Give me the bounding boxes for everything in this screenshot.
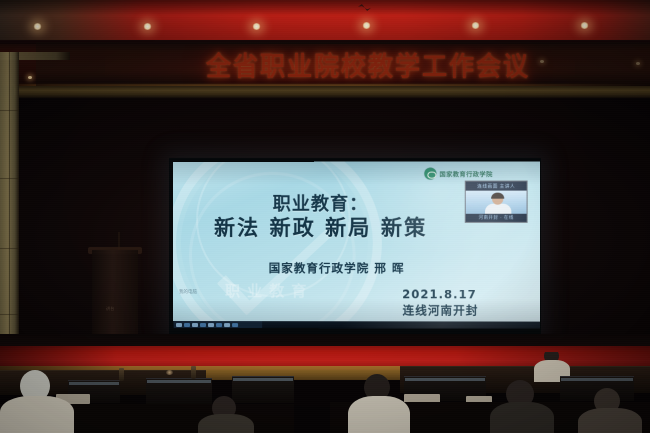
wall-seam-vertical	[9, 52, 10, 352]
podium-label: 讲台	[106, 306, 115, 312]
ceiling-downlight-6	[580, 22, 589, 29]
pip-top-bar-text: 连线画面 主讲人	[477, 183, 515, 189]
desktop-icon: 我的电脑	[179, 280, 197, 294]
ceiling-red-wash	[0, 0, 650, 44]
taskbar-app-icon-4	[208, 323, 214, 327]
left-wall-panel	[0, 52, 19, 352]
person-shoulder	[198, 414, 254, 433]
taskbar-app-icon-3	[200, 323, 206, 327]
conference-hall-photo: 全省职业院校教学工作会议 职业教育 国家教育行政学院 连线画面 主讲人	[0, 0, 650, 433]
taskbar-start-icon	[176, 323, 182, 327]
projection-screen: 职业教育 国家教育行政学院 连线画面 主讲人 河南开封 · 在线 职业教育： 新…	[173, 161, 540, 328]
pip-top-bar: 连线画面 主讲人	[466, 182, 527, 191]
desk-monitor-2	[146, 378, 212, 405]
person-shoulder	[348, 396, 410, 433]
pip-video-frame	[466, 191, 527, 214]
monitor-screen	[561, 378, 633, 381]
banner-spot-left	[28, 76, 32, 79]
taskbar-app-icon-6	[224, 323, 230, 327]
ceiling-downlight-5	[471, 22, 480, 29]
os-taskbar	[173, 321, 540, 329]
wall-seam-2	[0, 178, 19, 179]
monitor-screen	[147, 380, 211, 383]
ceiling-downlight-3	[252, 23, 261, 30]
pip-speaker-hair	[491, 193, 504, 199]
person-shoulder	[490, 402, 554, 433]
remote-video-pip: 连线画面 主讲人 河南开封 · 在线	[465, 181, 528, 223]
monitor-screen	[405, 378, 485, 381]
ceiling-downlight-4	[362, 22, 371, 29]
academy-logo-text: 国家教育行政学院	[439, 169, 492, 178]
person-shoulder	[0, 396, 74, 433]
stage-soffit	[36, 42, 650, 88]
water-bottle-center	[119, 368, 124, 381]
wall-seam-1	[0, 110, 19, 111]
slide-date: 2021.8.17	[374, 287, 505, 301]
taskbar-app-icon-5	[216, 323, 222, 327]
ceiling-downlight-1	[33, 23, 42, 30]
monitor-screen	[233, 378, 293, 381]
slide-author-line: 国家教育行政学院 邢 晖	[173, 260, 501, 276]
pip-bottom-bar-text: 河南开封 · 在线	[479, 215, 514, 221]
pip-bottom-bar: 河南开封 · 在线	[466, 214, 527, 222]
slide-subtitle: 新法 新政 新局 新策	[173, 212, 469, 242]
wall-seam-4	[0, 314, 19, 315]
person-shoulder	[578, 408, 642, 433]
water-bottle-left	[191, 366, 196, 379]
ceiling-downlight-2	[143, 23, 152, 30]
monitor-screen	[69, 382, 119, 385]
desktop-icon-label: 我的电脑	[179, 289, 197, 294]
desk-monitor-3	[232, 376, 294, 403]
slide-location: 连线河南开封	[370, 302, 512, 318]
academy-emblem-icon	[424, 168, 436, 180]
slide-logo: 国家教育行政学院	[424, 166, 537, 180]
seal-watermark-text: 职业教育	[191, 280, 348, 320]
taskbar-app-icon-7	[232, 323, 238, 327]
wall-seam-3	[0, 248, 19, 249]
taskbar-icon-group	[174, 321, 262, 328]
desk-lamp-glow	[166, 370, 173, 375]
taskbar-app-icon-2	[192, 323, 198, 327]
audience-area	[0, 352, 650, 433]
stage-header-beam	[14, 86, 650, 98]
taskbar-app-icon-1	[184, 323, 190, 327]
